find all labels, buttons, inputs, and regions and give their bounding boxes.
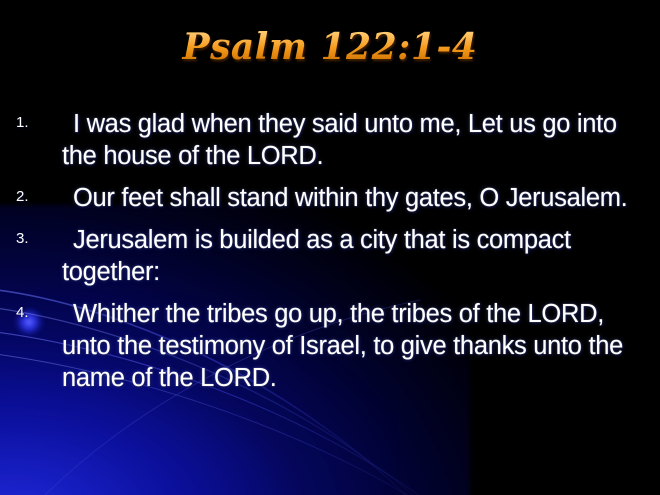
list-item: 2. Our feet shall stand within thy gates… xyxy=(0,182,660,214)
list-item-marker: 2. xyxy=(16,188,54,206)
list-item-text: Whither the tribes go up, the tribes of … xyxy=(62,298,642,394)
scripture-list: 1. I was glad when they said unto me, Le… xyxy=(0,108,660,404)
list-item-text: Jerusalem is builded as a city that is c… xyxy=(62,224,642,288)
presentation-slide: Psalm 122:1-4 1. I was glad when they sa… xyxy=(0,0,660,495)
list-item-text: I was glad when they said unto me, Let u… xyxy=(62,108,642,172)
list-item: 3. Jerusalem is builded as a city that i… xyxy=(0,224,660,288)
list-item: 4. Whither the tribes go up, the tribes … xyxy=(0,298,660,394)
list-item-marker: 4. xyxy=(16,304,54,322)
list-item-text: Our feet shall stand within thy gates, O… xyxy=(62,182,642,214)
slide-title: Psalm 122:1-4 xyxy=(0,26,660,68)
list-item-marker: 3. xyxy=(16,230,54,248)
list-item: 1. I was glad when they said unto me, Le… xyxy=(0,108,660,172)
list-item-marker: 1. xyxy=(16,114,54,132)
